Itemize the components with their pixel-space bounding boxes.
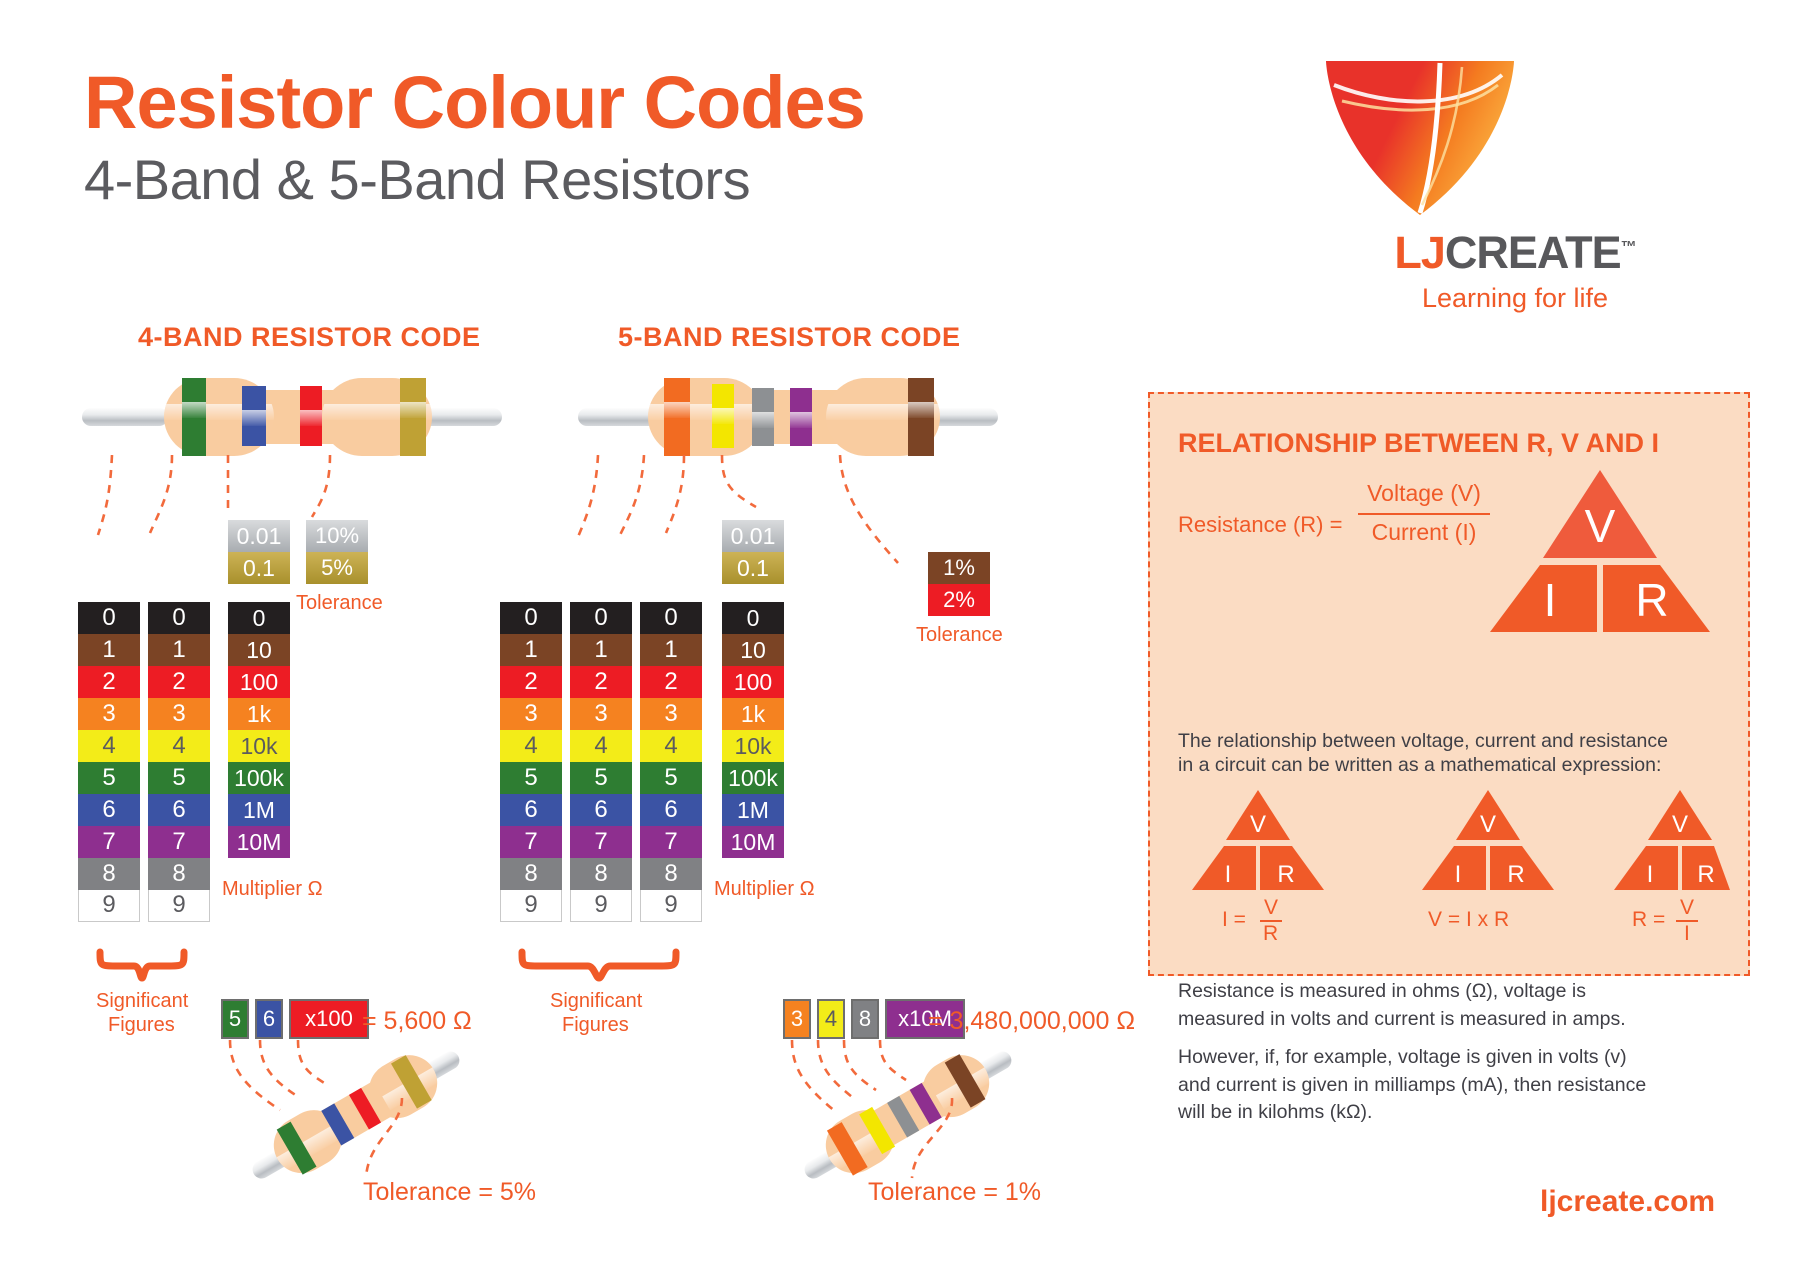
five-band-digit-column-3: 0123456789 — [640, 602, 702, 922]
four-band-significant-label-2: Figures — [108, 1014, 175, 1037]
digit-cell-violet: 7 — [640, 826, 702, 858]
digit-cell-brown: 1 — [148, 634, 210, 666]
digit-cell-orange: 3 — [640, 698, 702, 730]
four-band-digit-column-1: 0123456789 — [78, 602, 140, 922]
five-band-heading: 5-BAND RESISTOR CODE — [618, 322, 961, 353]
four-band-significant-brace — [96, 948, 188, 982]
four-band-tolerance-swatches: 10% 5% — [306, 520, 368, 584]
relationship-note-2: However, if, for example, voltage is giv… — [1178, 1044, 1652, 1127]
multiplier-cell-yellow: 10k — [722, 730, 784, 762]
five-band-tolerance-note: Tolerance = 1% — [868, 1178, 1041, 1207]
relationship-panel-title: RELATIONSHIP BETWEEN R, V AND I — [1178, 428, 1659, 459]
mini-formula-1-lhs: I = — [1222, 908, 1246, 932]
four-band-digit-column-2: 0123456789 — [148, 602, 210, 922]
four-band-leader-lines — [80, 455, 500, 560]
svg-text:R: R — [1697, 861, 1714, 888]
svg-text:R: R — [1507, 861, 1524, 888]
multiplier-cell-green: 100k — [722, 762, 784, 794]
four-band-tolerance-note: Tolerance = 5% — [363, 1178, 536, 1207]
five-band-multiplier-label: Multiplier Ω — [714, 878, 815, 901]
resistor-lead-left — [82, 408, 168, 426]
five-band-leader-lines — [576, 455, 1016, 565]
band-3-red — [300, 386, 322, 446]
logo-tm: ™ — [1621, 239, 1636, 256]
svg-text:R: R — [1277, 861, 1294, 888]
mini-formula-1-num: V — [1264, 896, 1278, 920]
digit-cell-yellow: 4 — [500, 730, 562, 762]
digit-cell-red: 2 — [148, 666, 210, 698]
four-band-multiplier-column: 0101001k10k100k1M10M — [228, 602, 290, 858]
multiplier-cell-brown: 10 — [722, 634, 784, 666]
digit-cell-yellow: 4 — [640, 730, 702, 762]
digit-cell-grey: 8 — [570, 858, 632, 890]
multiplier-0.1-gold: 0.1 — [722, 552, 784, 584]
example-chip-red: x100 — [290, 1000, 368, 1038]
digit-cell-green: 5 — [148, 762, 210, 794]
formula-fraction-bar — [1358, 513, 1490, 515]
four-band-resistor-illustration — [82, 370, 502, 462]
mini-formula-3-den: I — [1684, 922, 1690, 946]
svg-text:I: I — [1225, 861, 1232, 888]
multiplier-cell-orange: 1k — [722, 698, 784, 730]
five-band-resistor-illustration — [578, 370, 998, 462]
multiplier-cell-red: 100 — [228, 666, 290, 698]
example-chip-grey: 8 — [852, 1000, 878, 1038]
digit-cell-grey: 8 — [640, 858, 702, 890]
digit-cell-red: 2 — [640, 666, 702, 698]
band-1-green — [182, 378, 206, 456]
digit-cell-black: 0 — [640, 602, 702, 634]
four-band-tolerance-leader — [356, 1098, 426, 1188]
five-band-significant-label-1: Significant — [550, 990, 642, 1013]
relationship-note-1: Resistance is measured in ohms (Ω), volt… — [1178, 978, 1652, 1033]
digit-cell-blue: 6 — [500, 794, 562, 826]
four-band-multiplier-top: 0.01 0.1 — [228, 520, 290, 584]
digit-cell-red: 2 — [78, 666, 140, 698]
digit-cell-violet: 7 — [500, 826, 562, 858]
five-band-tolerance-swatches: 1% 2% — [928, 552, 990, 616]
digit-cell-green: 5 — [640, 762, 702, 794]
four-band-multiplier-label: Multiplier Ω — [222, 878, 323, 901]
formula-numerator: Voltage (V) — [1356, 480, 1492, 507]
five-band-digit-column-1: 0123456789 — [500, 602, 562, 922]
example-chip-blue: 6 — [256, 1000, 282, 1038]
digit-cell-green: 5 — [570, 762, 632, 794]
mini-formula-3-lhs: R = — [1632, 908, 1665, 932]
digit-cell-blue: 6 — [570, 794, 632, 826]
vir-triangle-mini-2: V I R — [1418, 790, 1558, 918]
svg-text:I: I — [1455, 861, 1462, 888]
four-band-significant-label-1: Significant — [96, 990, 188, 1013]
vir-triangle-mini-1: V I R — [1188, 790, 1328, 918]
four-band-example-chips: 56x100 — [222, 1000, 376, 1038]
five-band-significant-brace — [518, 948, 680, 982]
digit-cell-blue: 6 — [148, 794, 210, 826]
digit-cell-violet: 7 — [570, 826, 632, 858]
tolerance-1-percent-brown: 1% — [928, 552, 990, 584]
logo-create: CREATE — [1445, 227, 1621, 278]
digit-cell-black: 0 — [78, 602, 140, 634]
five-band-multiplier-top: 0.01 0.1 — [722, 520, 784, 584]
svg-text:V: V — [1480, 811, 1496, 838]
band-1-orange — [664, 378, 690, 456]
four-band-tolerance-label: Tolerance — [296, 592, 383, 615]
multiplier-cell-red: 100 — [722, 666, 784, 698]
five-band-tolerance-label: Tolerance — [916, 624, 1003, 647]
digit-cell-brown: 1 — [640, 634, 702, 666]
mini-formula-3-num: V — [1680, 896, 1694, 920]
five-band-digit-column-2: 0123456789 — [570, 602, 632, 922]
brand-logo: LJCREATE™ Learning for life — [1300, 55, 1730, 325]
formula-denominator: Current (I) — [1356, 519, 1492, 546]
digit-cell-orange: 3 — [78, 698, 140, 730]
digit-cell-orange: 3 — [148, 698, 210, 730]
band-5-brown — [908, 378, 934, 456]
multiplier-cell-green: 100k — [228, 762, 290, 794]
digit-cell-red: 2 — [570, 666, 632, 698]
digit-cell-blue: 6 — [640, 794, 702, 826]
multiplier-0.01-silver: 0.01 — [228, 520, 290, 552]
multiplier-cell-black: 0 — [228, 602, 290, 634]
digit-cell-black: 0 — [148, 602, 210, 634]
multiplier-0.01-silver: 0.01 — [722, 520, 784, 552]
logo-lj: LJ — [1394, 227, 1445, 278]
band-4-gold — [400, 378, 426, 456]
formula-lhs: Resistance (R) = — [1178, 512, 1342, 538]
digit-cell-yellow: 4 — [78, 730, 140, 762]
logo-tagline: Learning for life — [1300, 283, 1730, 314]
mini-formula-2: V = I x R — [1428, 908, 1509, 932]
multiplier-cell-blue: 1M — [228, 794, 290, 826]
multiplier-cell-blue: 1M — [722, 794, 784, 826]
digit-cell-brown: 1 — [78, 634, 140, 666]
five-band-multiplier-column: 0101001k10k100k1M10M — [722, 602, 784, 858]
digit-cell-black: 0 — [500, 602, 562, 634]
band-2-yellow — [712, 384, 734, 448]
digit-cell-brown: 1 — [570, 634, 632, 666]
digit-cell-white: 9 — [570, 890, 632, 922]
multiplier-0.1-gold: 0.1 — [228, 552, 290, 584]
band-4-violet — [790, 388, 812, 446]
example-chip-green: 5 — [222, 1000, 248, 1038]
digit-cell-green: 5 — [78, 762, 140, 794]
multiplier-cell-violet: 10M — [722, 826, 784, 858]
page-title: Resistor Colour Codes — [84, 66, 1084, 140]
digit-cell-white: 9 — [640, 890, 702, 922]
multiplier-cell-black: 0 — [722, 602, 784, 634]
band-2-blue — [242, 386, 266, 446]
digit-cell-white: 9 — [148, 890, 210, 922]
multiplier-cell-brown: 10 — [228, 634, 290, 666]
digit-cell-grey: 8 — [148, 858, 210, 890]
digit-cell-grey: 8 — [500, 858, 562, 890]
multiplier-cell-yellow: 10k — [228, 730, 290, 762]
svg-text:I: I — [1647, 861, 1654, 888]
triangle-label-r: R — [1635, 574, 1668, 626]
page-subtitle: 4-Band & 5-Band Resistors — [84, 152, 1184, 208]
example-chip-orange: 3 — [784, 1000, 810, 1038]
triangle-label-i: I — [1544, 574, 1557, 626]
shield-icon — [1320, 55, 1520, 220]
svg-text:V: V — [1250, 811, 1266, 838]
digit-cell-yellow: 4 — [570, 730, 632, 762]
tolerance-10-percent-silver: 10% — [306, 520, 368, 552]
digit-cell-blue: 6 — [78, 794, 140, 826]
digit-cell-white: 9 — [78, 890, 140, 922]
digit-cell-violet: 7 — [148, 826, 210, 858]
four-band-heading: 4-BAND RESISTOR CODE — [138, 322, 481, 353]
digit-cell-grey: 8 — [78, 858, 140, 890]
example-chip-yellow: 4 — [818, 1000, 844, 1038]
digit-cell-green: 5 — [500, 762, 562, 794]
website-footer: ljcreate.com — [1540, 1185, 1715, 1219]
five-band-tolerance-leader — [900, 1098, 980, 1188]
digit-cell-orange: 3 — [500, 698, 562, 730]
digit-cell-brown: 1 — [500, 634, 562, 666]
relationship-intro-line-2: in a circuit can be written as a mathema… — [1178, 752, 1661, 780]
four-band-example-result: = 5,600 Ω — [362, 1007, 472, 1036]
digit-cell-white: 9 — [500, 890, 562, 922]
band-3-grey — [752, 388, 774, 446]
vir-triangle-large: V I R — [1490, 470, 1710, 635]
multiplier-cell-orange: 1k — [228, 698, 290, 730]
triangle-label-v: V — [1585, 500, 1616, 552]
logo-wordmark: LJCREATE™ — [1300, 227, 1730, 279]
digit-cell-red: 2 — [500, 666, 562, 698]
digit-cell-black: 0 — [570, 602, 632, 634]
digit-cell-yellow: 4 — [148, 730, 210, 762]
mini-formula-1-den: R — [1263, 922, 1278, 946]
digit-cell-orange: 3 — [570, 698, 632, 730]
five-band-significant-label-2: Figures — [562, 1014, 629, 1037]
tolerance-5-percent-gold: 5% — [306, 552, 368, 584]
multiplier-cell-violet: 10M — [228, 826, 290, 858]
tolerance-2-percent-red: 2% — [928, 584, 990, 616]
digit-cell-violet: 7 — [78, 826, 140, 858]
svg-text:V: V — [1672, 811, 1688, 838]
